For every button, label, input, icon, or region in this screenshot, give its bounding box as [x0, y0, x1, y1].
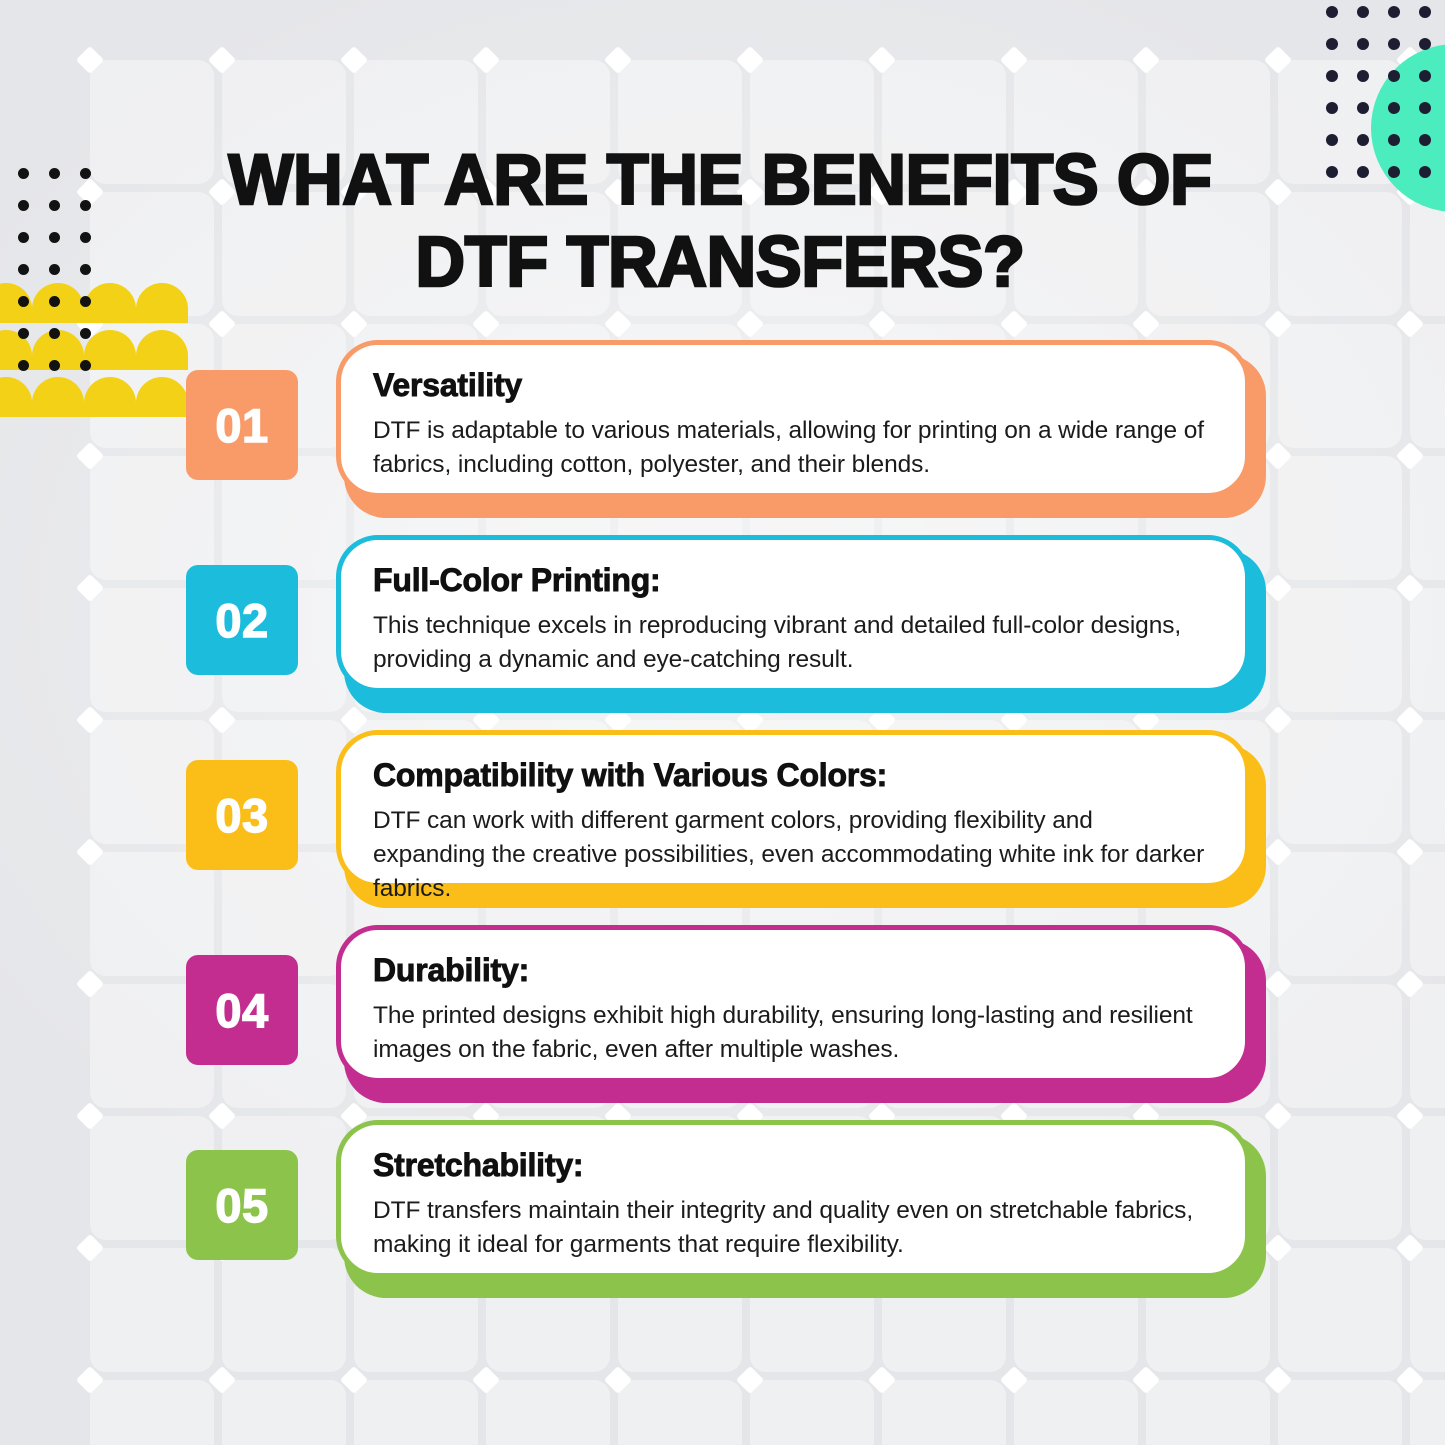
benefit-title: Stretchability: [373, 1147, 1211, 1184]
decorative-dot [1388, 102, 1400, 114]
benefit-card[interactable]: Durability:The printed designs exhibit h… [336, 925, 1266, 1103]
benefit-row[interactable]: 05Stretchability:DTF transfers maintain … [186, 1120, 1266, 1315]
benefit-description: DTF transfers maintain their integrity a… [373, 1194, 1211, 1262]
background-grid-cell [1278, 1380, 1402, 1445]
grid-intersection-diamond [1264, 1366, 1292, 1394]
background-grid-cell [222, 1380, 346, 1445]
decorative-dot [1419, 166, 1431, 178]
background-grid-cell [1278, 588, 1402, 712]
decorative-dot [80, 200, 91, 211]
infographic-canvas: WHAT ARE THE BENEFITS OF DTF TRANSFERS? … [0, 0, 1445, 1445]
grid-intersection-diamond [208, 1366, 236, 1394]
decorative-dot [49, 200, 60, 211]
decorative-dot [49, 264, 60, 275]
background-grid-cell [1278, 852, 1402, 976]
grid-intersection-diamond [868, 1366, 896, 1394]
grid-intersection-diamond [736, 46, 764, 74]
decorative-dot [80, 296, 91, 307]
grid-intersection-diamond [868, 310, 896, 338]
benefit-row[interactable]: 02Full-Color Printing:This technique exc… [186, 535, 1266, 730]
benefit-title: Durability: [373, 952, 1211, 989]
decorative-dot [1326, 70, 1338, 82]
background-grid-cell [1014, 1380, 1138, 1445]
grid-intersection-diamond [604, 1366, 632, 1394]
grid-intersection-diamond [76, 1234, 104, 1262]
grid-intersection-diamond [472, 1366, 500, 1394]
decorative-dot [49, 328, 60, 339]
decorative-dot [49, 296, 60, 307]
benefit-row[interactable]: 01VersatilityDTF is adaptable to various… [186, 340, 1266, 535]
benefit-number: 01 [215, 398, 268, 453]
grid-intersection-diamond [1396, 574, 1424, 602]
grid-intersection-diamond [1264, 970, 1292, 998]
benefit-row[interactable]: 04Durability:The printed designs exhibit… [186, 925, 1266, 1120]
benefit-card-face: Stretchability:DTF transfers maintain th… [336, 1120, 1250, 1278]
benefit-number: 03 [215, 788, 268, 843]
background-grid-cell [1146, 1380, 1270, 1445]
grid-intersection-diamond [1396, 1234, 1424, 1262]
grid-intersection-diamond [76, 46, 104, 74]
decorative-dot [1388, 70, 1400, 82]
decorative-dot [18, 200, 29, 211]
benefit-card[interactable]: Compatibility with Various Colors:DTF ca… [336, 730, 1266, 908]
decorative-dot [1326, 102, 1338, 114]
background-grid-cell [1278, 984, 1402, 1108]
grid-intersection-diamond [208, 310, 236, 338]
background-grid-cell [90, 1380, 214, 1445]
grid-intersection-diamond [1396, 970, 1424, 998]
benefit-description: The printed designs exhibit high durabil… [373, 999, 1211, 1067]
grid-intersection-diamond [340, 46, 368, 74]
decorative-dot [18, 296, 29, 307]
decorative-dot [18, 264, 29, 275]
benefit-row[interactable]: 03Compatibility with Various Colors:DTF … [186, 730, 1266, 925]
decorative-dot [18, 328, 29, 339]
decorative-dot [80, 328, 91, 339]
background-grid-cell [618, 1380, 742, 1445]
decorative-dot [49, 360, 60, 371]
grid-intersection-diamond [1000, 1366, 1028, 1394]
background-grid-cell [1410, 1116, 1445, 1240]
benefit-card-face: Durability:The printed designs exhibit h… [336, 925, 1250, 1083]
grid-intersection-diamond [1396, 838, 1424, 866]
decorative-dot [1388, 38, 1400, 50]
grid-intersection-diamond [76, 706, 104, 734]
grid-intersection-diamond [1264, 706, 1292, 734]
decorative-dot [1326, 134, 1338, 146]
benefits-list: 01VersatilityDTF is adaptable to various… [186, 340, 1266, 1315]
grid-intersection-diamond [1000, 310, 1028, 338]
benefit-card[interactable]: Stretchability:DTF transfers maintain th… [336, 1120, 1266, 1298]
decorative-dot [1357, 166, 1369, 178]
background-grid-cell [486, 1380, 610, 1445]
grid-intersection-diamond [1132, 46, 1160, 74]
background-grid-cell [1410, 588, 1445, 712]
benefit-number: 05 [215, 1178, 268, 1233]
grid-intersection-diamond [472, 310, 500, 338]
decorative-dot [80, 232, 91, 243]
benefit-number-badge: 04 [186, 955, 298, 1065]
benefit-description: DTF is adaptable to various materials, a… [373, 414, 1211, 482]
grid-intersection-diamond [76, 574, 104, 602]
decorative-dot [1357, 6, 1369, 18]
benefit-number-badge: 05 [186, 1150, 298, 1260]
grid-intersection-diamond [1264, 310, 1292, 338]
decorative-dot [1419, 102, 1431, 114]
benefit-number-badge: 01 [186, 370, 298, 480]
benefit-title: Full-Color Printing: [373, 562, 1211, 599]
grid-intersection-diamond [1264, 46, 1292, 74]
grid-intersection-diamond [76, 1366, 104, 1394]
background-grid-cell [1278, 192, 1402, 316]
title-block: WHAT ARE THE BENEFITS OF DTF TRANSFERS? [160, 140, 1280, 303]
background-grid-cell [1278, 1248, 1402, 1372]
grid-intersection-diamond [868, 46, 896, 74]
decorative-dot [18, 232, 29, 243]
decorative-dot [80, 264, 91, 275]
decorative-dot [1388, 166, 1400, 178]
grid-intersection-diamond [1264, 574, 1292, 602]
grid-intersection-diamond [340, 310, 368, 338]
grid-intersection-diamond [1396, 310, 1424, 338]
decorative-dot [1419, 6, 1431, 18]
benefit-number-badge: 03 [186, 760, 298, 870]
decorative-dot [80, 360, 91, 371]
grid-intersection-diamond [604, 310, 632, 338]
grid-intersection-diamond [736, 1366, 764, 1394]
decorative-dot [1326, 166, 1338, 178]
background-grid-cell [1410, 720, 1445, 844]
benefit-title: Compatibility with Various Colors: [373, 757, 1211, 794]
background-grid-cell [1410, 852, 1445, 976]
benefit-number-badge: 02 [186, 565, 298, 675]
grid-intersection-diamond [1132, 1366, 1160, 1394]
decorative-dot [1388, 134, 1400, 146]
benefit-card[interactable]: Full-Color Printing:This technique excel… [336, 535, 1266, 713]
dome-shape [136, 330, 188, 370]
decorative-dot [1326, 38, 1338, 50]
decorative-dot [1357, 102, 1369, 114]
grid-intersection-diamond [604, 46, 632, 74]
background-grid-cell [1410, 324, 1445, 448]
benefit-card-face: VersatilityDTF is adaptable to various m… [336, 340, 1250, 498]
decorative-dot [1419, 70, 1431, 82]
benefit-number: 02 [215, 593, 268, 648]
grid-intersection-diamond [1396, 442, 1424, 470]
decorative-dot [1419, 38, 1431, 50]
grid-intersection-diamond [76, 442, 104, 470]
benefit-description: DTF can work with different garment colo… [373, 804, 1211, 905]
background-grid-cell [1410, 984, 1445, 1108]
dome-shape [136, 377, 188, 417]
page-title: WHAT ARE THE BENEFITS OF DTF TRANSFERS? [177, 140, 1263, 303]
decorative-dot [18, 360, 29, 371]
top-right-dot-grid [1326, 6, 1445, 198]
background-grid-cell [1278, 720, 1402, 844]
decorative-dot [1326, 6, 1338, 18]
grid-intersection-diamond [76, 970, 104, 998]
grid-intersection-diamond [340, 1366, 368, 1394]
background-grid-cell [882, 1380, 1006, 1445]
decorative-dot [1357, 70, 1369, 82]
benefit-card-face: Compatibility with Various Colors:DTF ca… [336, 730, 1250, 888]
grid-intersection-diamond [472, 46, 500, 74]
grid-intersection-diamond [76, 1102, 104, 1130]
decorative-dot [1388, 6, 1400, 18]
grid-intersection-diamond [1264, 1102, 1292, 1130]
background-grid-cell [1278, 1116, 1402, 1240]
grid-intersection-diamond [76, 838, 104, 866]
background-grid-cell [750, 1380, 874, 1445]
background-grid-cell [1278, 456, 1402, 580]
decorative-dot [49, 168, 60, 179]
background-grid-cell [1410, 456, 1445, 580]
grid-intersection-diamond [208, 46, 236, 74]
benefit-description: This technique excels in reproducing vib… [373, 609, 1211, 677]
decorative-dot [1357, 134, 1369, 146]
benefit-card[interactable]: VersatilityDTF is adaptable to various m… [336, 340, 1266, 518]
top-left-dot-grid [18, 168, 111, 392]
benefit-title: Versatility [373, 367, 1211, 404]
grid-intersection-diamond [1396, 1102, 1424, 1130]
decorative-dot [80, 168, 91, 179]
grid-intersection-diamond [736, 310, 764, 338]
grid-intersection-diamond [1396, 1366, 1424, 1394]
decorative-dot [49, 232, 60, 243]
decorative-dot [1419, 134, 1431, 146]
background-grid-cell [1410, 1248, 1445, 1372]
grid-intersection-diamond [1132, 310, 1160, 338]
background-grid-cell [1410, 1380, 1445, 1445]
background-grid-cell [1278, 324, 1402, 448]
background-grid-cell [354, 1380, 478, 1445]
decorative-dot [18, 168, 29, 179]
grid-intersection-diamond [1396, 706, 1424, 734]
decorative-dot [1357, 38, 1369, 50]
benefit-number: 04 [215, 983, 268, 1038]
grid-intersection-diamond [1000, 46, 1028, 74]
grid-intersection-diamond [1264, 838, 1292, 866]
grid-intersection-diamond [1264, 442, 1292, 470]
benefit-card-face: Full-Color Printing:This technique excel… [336, 535, 1250, 693]
grid-intersection-diamond [1264, 1234, 1292, 1262]
